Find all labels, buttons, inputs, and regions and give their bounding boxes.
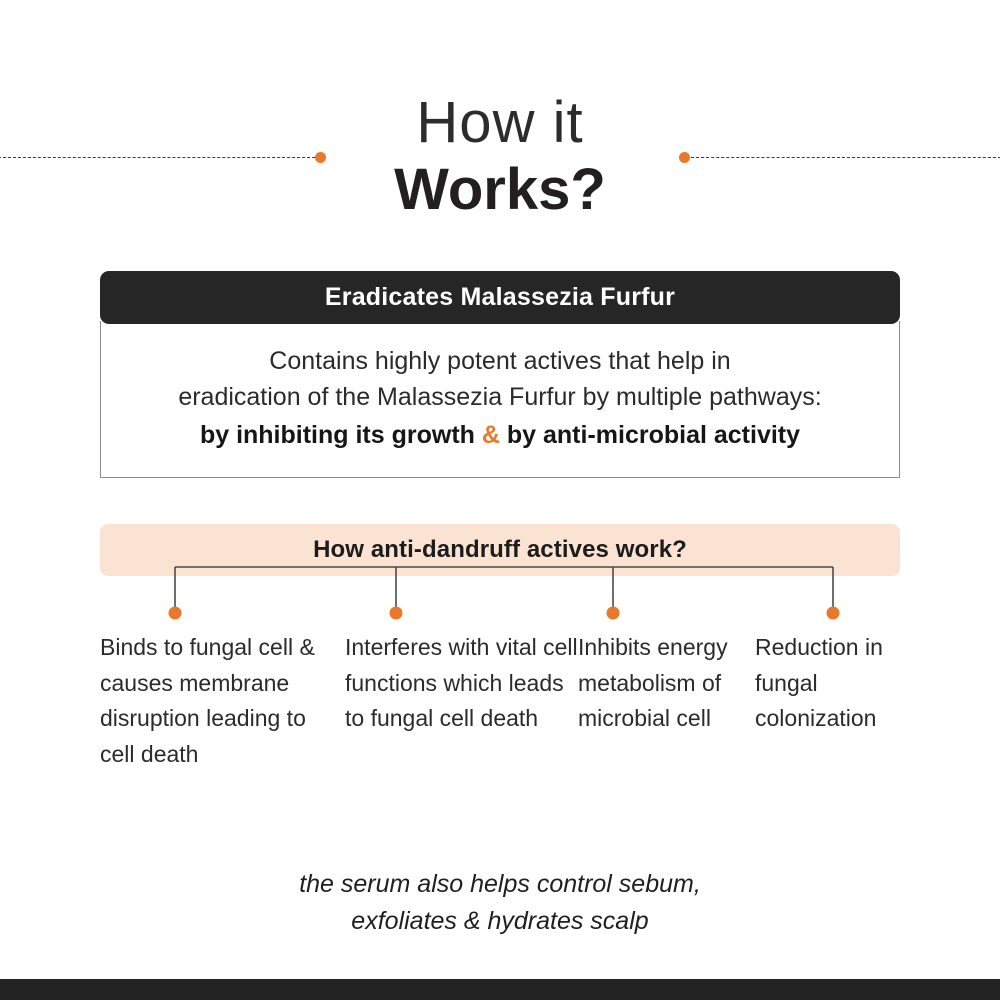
footer-note: the serum also helps control sebum, exfo… <box>0 866 1000 940</box>
ampersand-accent: & <box>482 421 500 449</box>
actives-column-3: Inhibits energy metabolism of microbial … <box>578 630 758 737</box>
eradicates-body-line-1: Contains highly potent actives that help… <box>119 343 881 379</box>
connector-dot-3 <box>607 607 620 620</box>
eradicates-card-body: Contains highly potent actives that help… <box>100 321 900 478</box>
eradicates-bold-part-2: by anti-microbial activity <box>500 421 800 449</box>
connector-dots <box>169 607 840 620</box>
page-title-line-2: Works? <box>0 158 1000 222</box>
actives-columns: Binds to fungal cell & causes membrane d… <box>0 630 1000 820</box>
connector-dot-4 <box>827 607 840 620</box>
eradicates-card-header: Eradicates Malassezia Furfur <box>100 271 900 324</box>
actives-column-1: Binds to fungal cell & causes membrane d… <box>100 630 345 772</box>
eradicates-body-line-3: by inhibiting its growth & by anti-micro… <box>119 417 881 453</box>
connector-dot-1 <box>169 607 182 620</box>
page-title: How it Works? <box>0 92 1000 222</box>
eradicates-bold-part-1: by inhibiting its growth <box>200 421 482 449</box>
connector-lines <box>175 567 833 609</box>
eradicates-card: Eradicates Malassezia Furfur Contains hi… <box>100 271 900 478</box>
bottom-bar <box>0 979 1000 1000</box>
connector-bracket <box>0 565 1000 625</box>
eradicates-body-line-2: eradication of the Malassezia Furfur by … <box>119 379 881 415</box>
actives-column-2: Interferes with vital cell functions whi… <box>345 630 580 737</box>
actives-column-4: Reduction in fungal colonization <box>755 630 920 737</box>
actives-banner-title: How anti-dandruff actives work? <box>313 536 687 564</box>
eradicates-card-header-text: Eradicates Malassezia Furfur <box>325 283 675 312</box>
connector-dot-2 <box>390 607 403 620</box>
page-title-line-1: How it <box>0 92 1000 154</box>
